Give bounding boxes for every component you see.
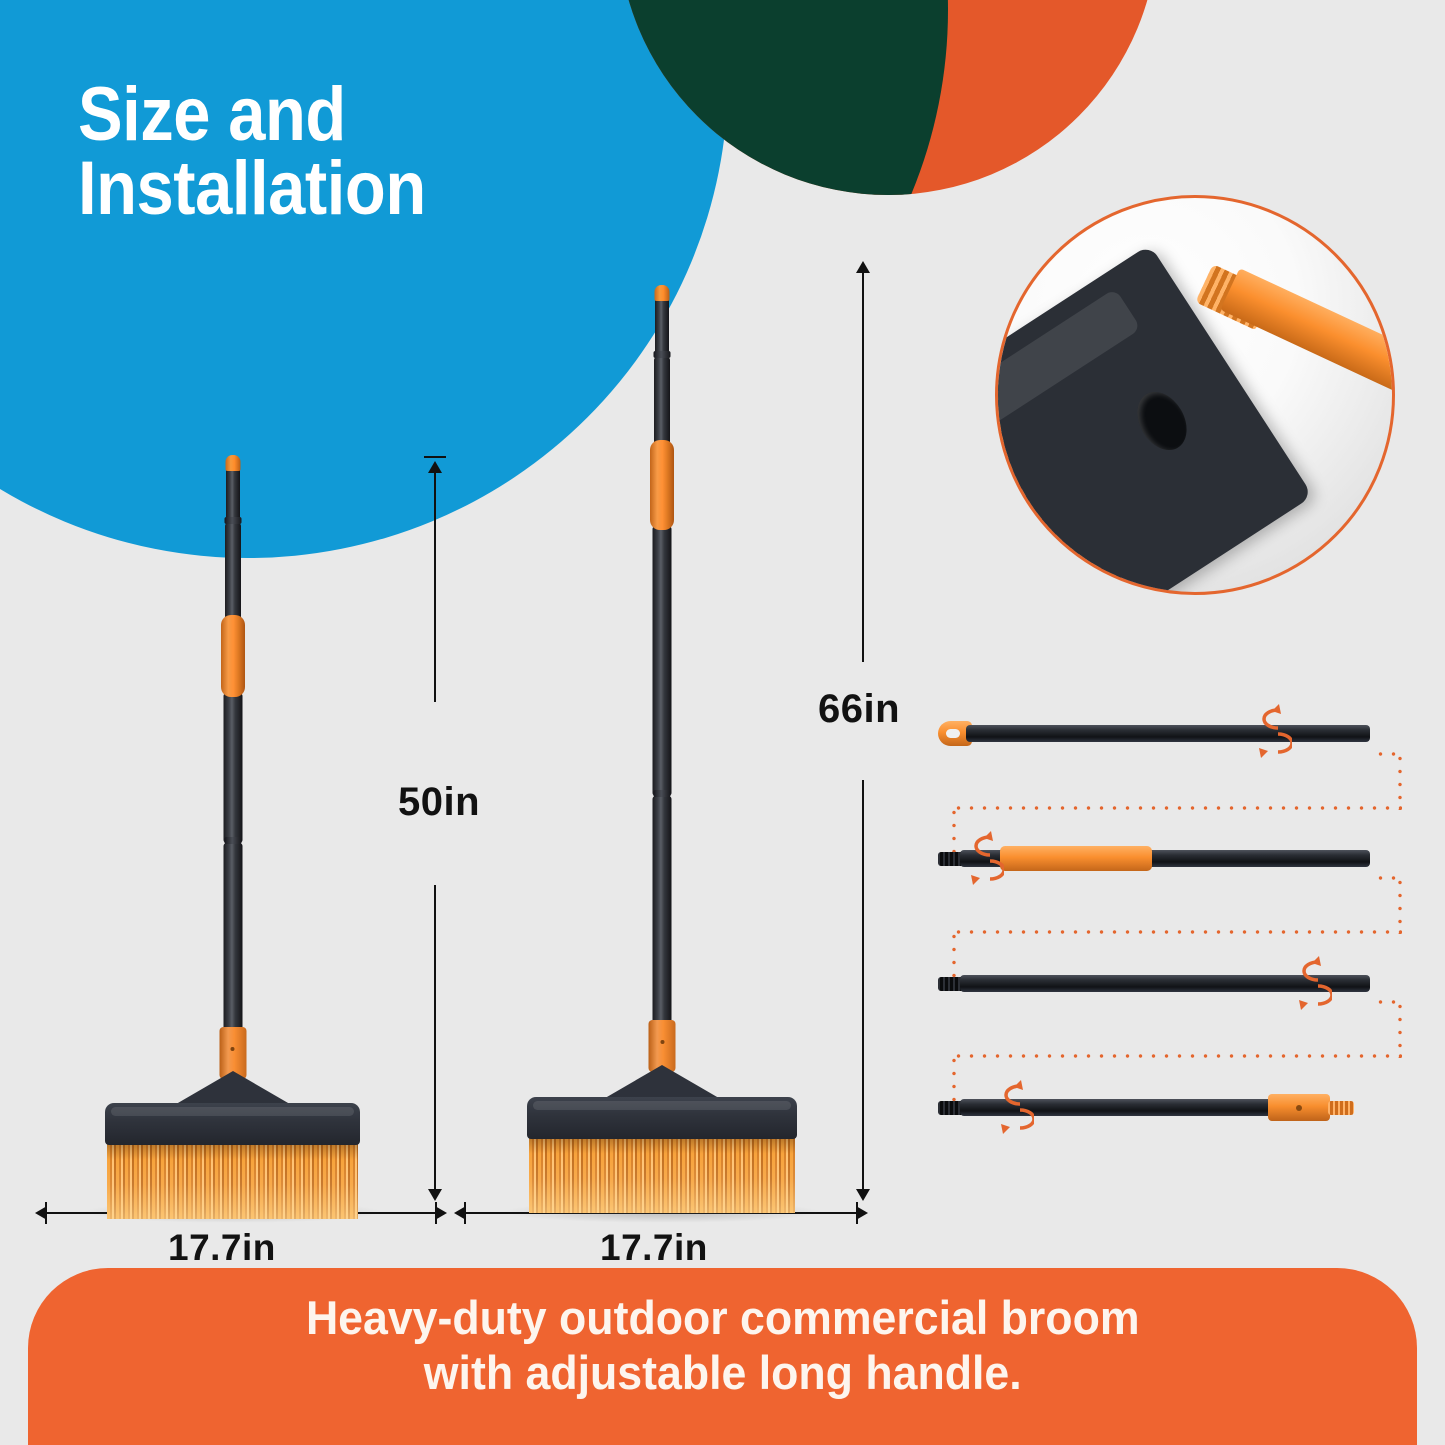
pole-tube-mid — [654, 357, 670, 447]
handle-rod-with-end-cap — [938, 718, 1370, 748]
pole-end-cap — [225, 455, 240, 471]
connector-dotline — [1398, 1000, 1402, 1058]
head-block — [105, 1103, 360, 1145]
connector-dotline — [952, 930, 1402, 934]
connector-dotline — [952, 1054, 1402, 1058]
head-center-boss — [171, 1071, 295, 1107]
rod-body — [966, 725, 1370, 742]
pole-tube-mid — [225, 523, 241, 628]
pole-grip-sleeve — [221, 615, 245, 697]
broom-50in — [105, 455, 360, 1215]
dimension-line-66in-lower — [862, 780, 864, 1190]
pole-tube-bottom — [223, 843, 242, 1055]
connector-dotline — [1398, 876, 1402, 934]
bristles — [107, 1143, 358, 1219]
dimension-line-50in-lower — [434, 885, 436, 1190]
thread-connection-detail-photo — [995, 195, 1395, 595]
banner-text: Heavy-duty outdoor commercial broom with… — [306, 1290, 1140, 1401]
dimension-arrow-up — [428, 461, 442, 473]
dimension-tick-left — [45, 1202, 47, 1224]
pole-joint-upper — [654, 351, 671, 358]
rotation-arrow-icon — [1248, 700, 1292, 762]
dimension-line-50in-upper — [434, 472, 436, 702]
broom-head — [527, 1067, 797, 1212]
dimension-label-left-width: 17.7in — [168, 1227, 276, 1269]
rotation-arrow-icon — [1288, 952, 1332, 1014]
dimension-arrow-up — [856, 261, 870, 273]
broom-head — [105, 1073, 360, 1218]
rotation-arrow-icon — [960, 827, 1004, 889]
dimension-tick-left — [464, 1202, 466, 1224]
pole-joint-upper — [224, 517, 241, 524]
connector-dotline — [952, 806, 1402, 810]
dimension-tick-right — [856, 1202, 858, 1224]
broom-pole — [218, 455, 248, 1095]
pole-grip-sleeve — [650, 440, 674, 530]
bottom-banner: Heavy-duty outdoor commercial broom with… — [28, 1268, 1417, 1445]
pole-tube-upper — [226, 468, 240, 520]
rod-orange-sleeve — [1000, 846, 1152, 871]
dimension-arrow-down — [856, 1189, 870, 1201]
dimension-label-66in: 66in — [818, 687, 900, 732]
dimension-tick-top — [424, 456, 446, 458]
pole-end-cap — [655, 285, 670, 301]
dimension-tick-right — [435, 1202, 437, 1224]
inset-orange-pole — [1220, 268, 1395, 394]
head-center-boss — [600, 1065, 724, 1101]
dimension-arrow-down — [428, 1189, 442, 1201]
pole-tube-bottom — [653, 796, 672, 1046]
pole-tube-upper — [655, 298, 669, 354]
rotation-arrow-icon — [990, 1076, 1034, 1138]
connector-dotline — [1398, 752, 1402, 810]
pole-joint-lower — [654, 790, 671, 797]
bristles — [529, 1137, 795, 1213]
head-block — [527, 1097, 797, 1139]
dimension-label-right-width: 17.7in — [600, 1227, 708, 1269]
dimension-label-50in: 50in — [398, 780, 480, 825]
pole-joint-lower — [224, 837, 241, 844]
broom-pole — [647, 285, 677, 1085]
infographic-canvas: Size and Installation 50in — [0, 0, 1445, 1445]
rod-orange-connector — [1268, 1094, 1330, 1121]
broom-66in — [527, 285, 797, 1215]
dimension-line-66in-upper — [862, 272, 864, 662]
pole-tube-lower — [653, 526, 672, 796]
rod-threaded-tip-orange — [1328, 1101, 1354, 1115]
pole-tube-lower — [223, 693, 242, 843]
page-title: Size and Installation — [78, 78, 606, 227]
